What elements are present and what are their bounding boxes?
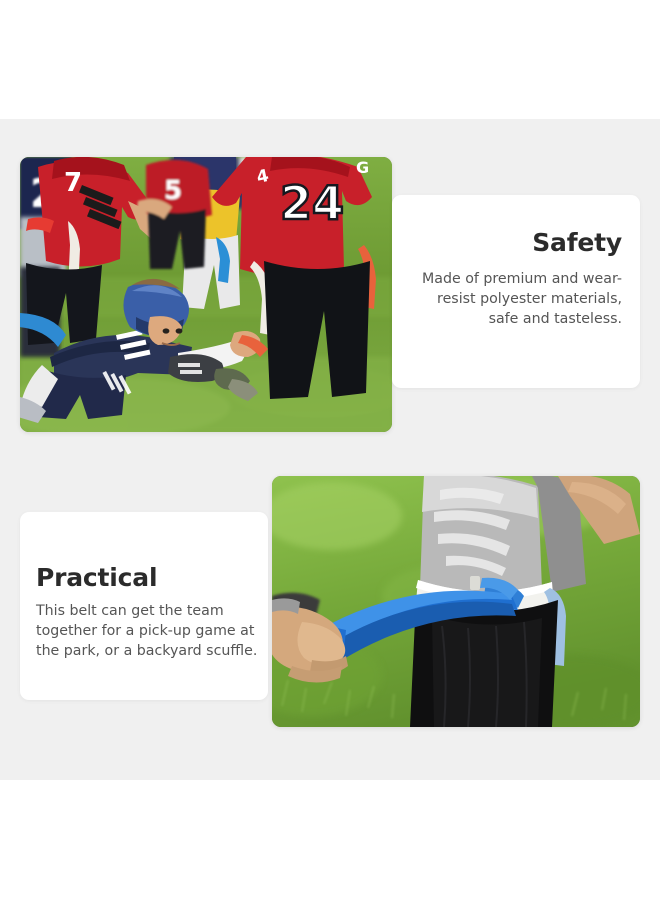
- safety-heading: Safety: [410, 229, 622, 257]
- svg-text:7: 7: [64, 168, 82, 198]
- feature-card-practical: Practical This belt can get the team tog…: [20, 512, 268, 700]
- svg-text:5: 5: [164, 176, 182, 206]
- svg-text:24: 24: [280, 176, 344, 230]
- practical-body: This belt can get the team together for …: [36, 601, 262, 661]
- practical-heading: Practical: [36, 564, 262, 592]
- svg-text:G: G: [356, 158, 369, 177]
- safety-body: Made of premium and wear-resist polyeste…: [410, 269, 622, 329]
- infographic-page: 2 7: [0, 0, 660, 900]
- youth-flag-football-game-photo: 2 7: [20, 157, 392, 432]
- feature-card-safety: Safety Made of premium and wear-resist p…: [392, 195, 640, 388]
- flag-pull-closeup-photo: [272, 476, 640, 727]
